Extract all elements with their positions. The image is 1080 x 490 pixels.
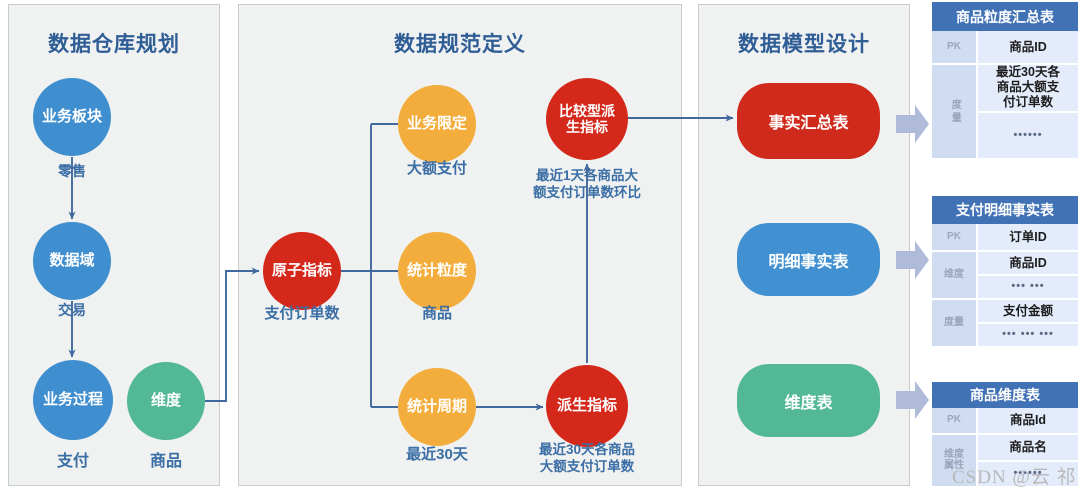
table-2-row-1-value-0: 商品ID [976,252,1078,276]
table-3-row-1-value-0: 商品名 [976,435,1078,462]
table-2-row-0-key: PK [932,224,976,252]
table-3-row-0-value-0: 商品Id [976,408,1078,435]
table-row: 度量 最近30天各 商品大额支 付订单数 •••••• [932,65,1078,160]
table-1-row-1-key: 度量 [932,65,976,160]
table-row: PK 商品ID [932,31,1078,65]
table-payment-detail-fact: 支付明细事实表 PK 订单ID 维度 商品ID ••• ••• 度量 支付金额 … [932,196,1078,348]
table-1-row-1-value-0: 最近30天各 商品大额支 付订单数 [976,65,1078,113]
block-arrow-to-dimension-table [896,380,930,420]
table-2-row-0-value-0: 订单ID [976,224,1078,252]
table-row: PK 商品Id [932,408,1078,435]
table-3-header: 商品维度表 [932,382,1078,408]
table-2-row-2-value-0: 支付金额 [976,300,1078,324]
table-2-row-2-key: 度量 [932,300,976,348]
table-product-granularity-summary: 商品粒度汇总表 PK 商品ID 度量 最近30天各 商品大额支 付订单数 •••… [932,2,1078,160]
table-1-header: 商品粒度汇总表 [932,2,1078,31]
table-row: PK 订单ID [932,224,1078,252]
table-2-row-1-value-1: ••• ••• [976,276,1078,300]
diagram-canvas: 数据仓库规划 业务板块 数据域 业务过程 维度 零售 交易 支付 商品 数据规范… [0,0,1080,490]
table-1-row-0-key: PK [932,31,976,65]
block-arrow-to-detail-table [896,240,930,280]
arrow-dimension-to-atomic [205,271,259,401]
table-1-row-0-value-0: 商品ID [976,31,1078,65]
table-2-row-2-value-1: ••• ••• ••• [976,324,1078,348]
table-3-row-0-key: PK [932,408,976,435]
table-row: 度量 支付金额 ••• ••• ••• [932,300,1078,348]
block-arrow-to-summary-table [896,104,930,144]
table-2-row-1-key: 维度 [932,252,976,300]
table-1-row-1-value-1: •••••• [976,113,1078,161]
table-2-header: 支付明细事实表 [932,196,1078,224]
table-row: 维度 商品ID ••• ••• [932,252,1078,300]
watermark-csdn: CSDN @云 祁 [952,462,1077,489]
